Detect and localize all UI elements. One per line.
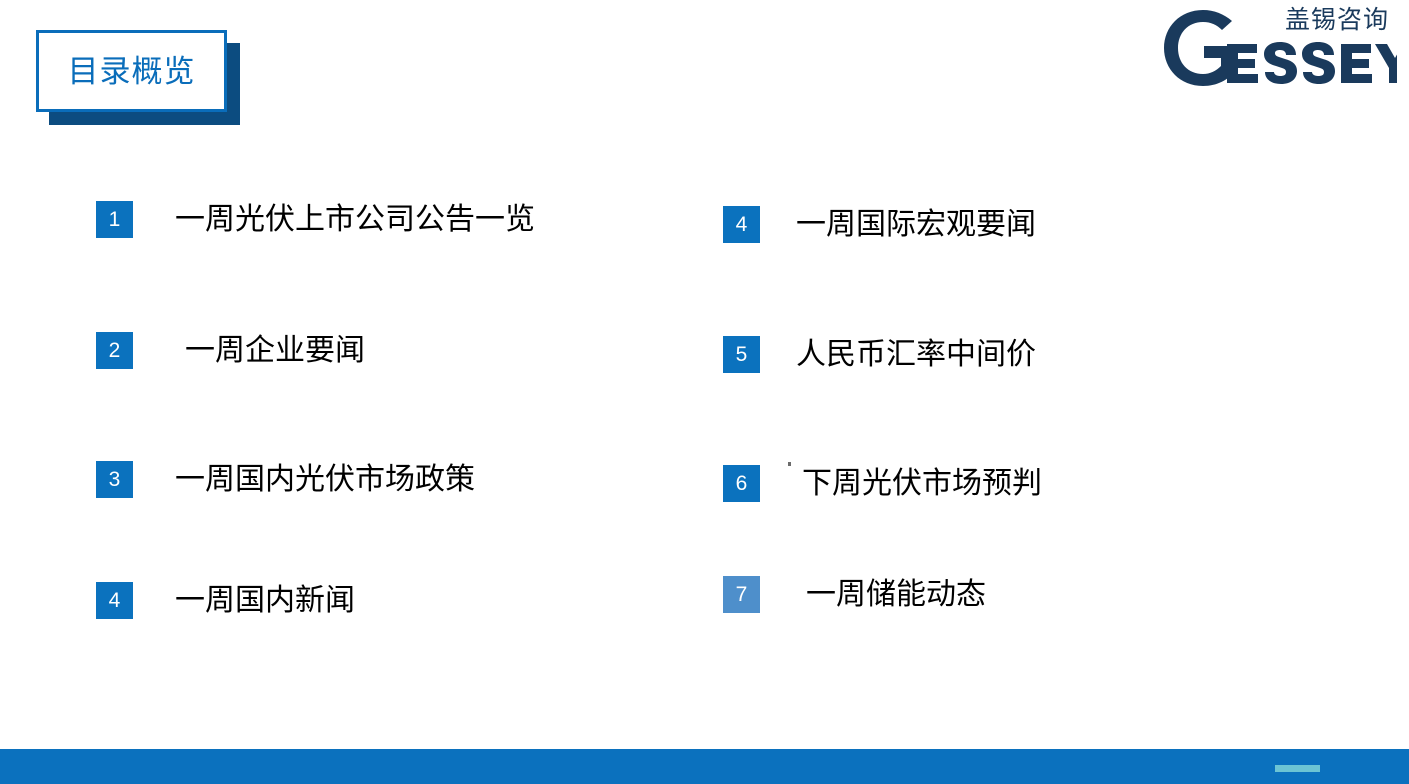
list-item-label: 一周国际宏观要闻 bbox=[796, 208, 1036, 241]
footer-accent-dash bbox=[1275, 765, 1320, 772]
item-number-badge: 4 bbox=[723, 206, 760, 243]
company-logo: 盖锡咨询 bbox=[1157, 2, 1397, 88]
item-number-badge: 7 bbox=[723, 576, 760, 613]
list-item[interactable]: 3 一周国内光伏市场政策 bbox=[96, 456, 475, 502]
list-item[interactable]: 6 下周光伏市场预判 bbox=[723, 460, 1042, 506]
list-item-label: 一周企业要闻 bbox=[185, 334, 365, 367]
svg-text:盖锡咨询: 盖锡咨询 bbox=[1285, 6, 1389, 34]
page-title: 目录概览 bbox=[68, 56, 196, 87]
list-item[interactable]: 5 人民币汇率中间价 bbox=[723, 331, 1036, 377]
item-number-badge: 5 bbox=[723, 336, 760, 373]
item-number-badge: 1 bbox=[96, 201, 133, 238]
list-item[interactable]: 4 一周国内新闻 bbox=[96, 577, 355, 623]
stray-mark bbox=[788, 462, 791, 466]
title-box: 目录概览 bbox=[36, 30, 227, 112]
toc-columns: 1 一周光伏上市公司公告一览 2 一周企业要闻 3 一周国内光伏市场政策 4 一… bbox=[0, 160, 1409, 660]
list-item[interactable]: 7 一周储能动态 bbox=[723, 571, 986, 617]
list-item-label: 下周光伏市场预判 bbox=[802, 467, 1042, 500]
list-item[interactable]: 4 一周国际宏观要闻 bbox=[723, 201, 1036, 247]
list-item-label: 一周光伏上市公司公告一览 bbox=[175, 203, 535, 236]
list-item[interactable]: 2 一周企业要闻 bbox=[96, 327, 365, 373]
item-number-badge: 3 bbox=[96, 461, 133, 498]
list-item-label: 人民币汇率中间价 bbox=[796, 338, 1036, 371]
list-item-label: 一周储能动态 bbox=[806, 578, 986, 611]
list-item[interactable]: 1 一周光伏上市公司公告一览 bbox=[96, 196, 535, 242]
list-item-label: 一周国内光伏市场政策 bbox=[175, 463, 475, 496]
item-number-badge: 4 bbox=[96, 582, 133, 619]
item-number-badge: 6 bbox=[723, 465, 760, 502]
footer-bar bbox=[0, 749, 1409, 784]
slide-canvas: 目录概览 bbox=[0, 0, 1409, 784]
item-number-badge: 2 bbox=[96, 332, 133, 369]
list-item-label: 一周国内新闻 bbox=[175, 584, 355, 617]
